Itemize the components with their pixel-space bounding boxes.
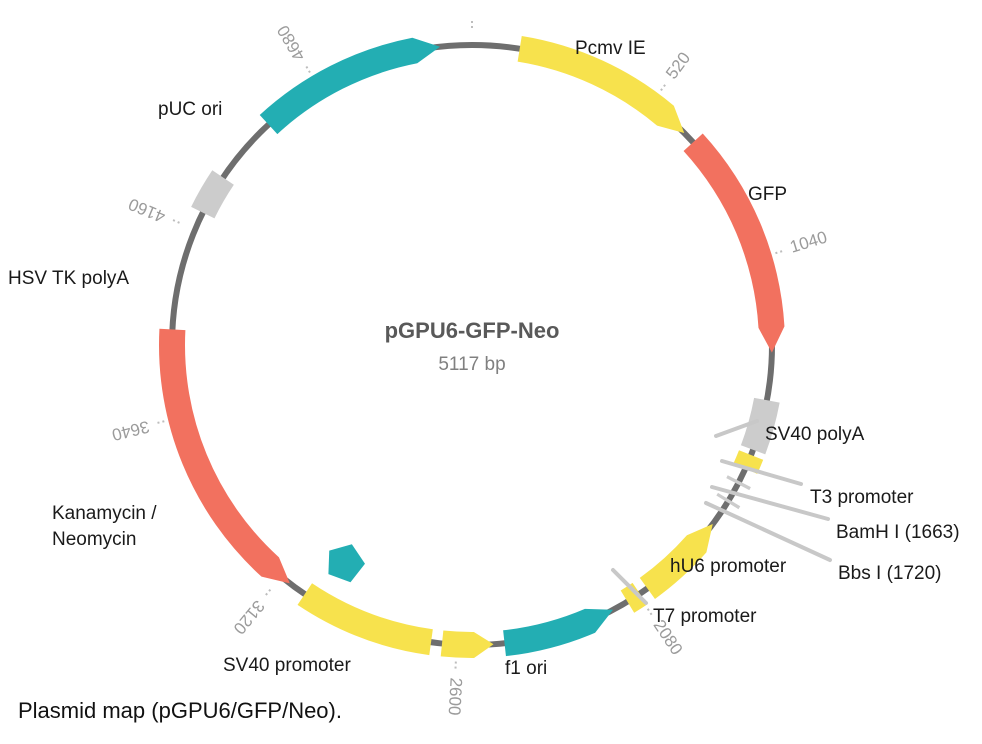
plasmid-map-svg: 5201040208026003120364041604680 Pcmv IEG… <box>0 0 982 744</box>
feature-label-hsv-tk-polya: HSV TK polyA <box>8 268 129 289</box>
feature-label-t7-promoter: T7 promoter <box>653 606 757 627</box>
tick-mark-3120 <box>265 590 271 597</box>
plasmid-map-figure: 5201040208026003120364041604680 Pcmv IEG… <box>0 0 982 744</box>
feature-label-bamh-i-1663: BamH I (1663) <box>836 522 960 543</box>
feature-arc-f1-ori[interactable] <box>503 609 613 656</box>
feature-label-bbs-i-1720: Bbs I (1720) <box>838 563 942 584</box>
tick-mark-4680 <box>305 65 310 73</box>
tick-mark-4160 <box>171 219 179 222</box>
feature-label-kanamycin-neomycin: Kanamycin /Neomycin <box>52 503 157 550</box>
figure-caption: Plasmid map (pGPU6/GFP/Neo). <box>18 698 342 724</box>
tick-label-3640: 3640 <box>110 417 151 445</box>
plasmid-size: 5117 bp <box>438 354 505 375</box>
plasmid-center-text-group: pGPU6-GFP-Neo 5117 bp <box>385 318 560 375</box>
feature-arc-kanamycin-neomycin[interactable] <box>159 329 290 584</box>
feature-label-f1-ori: f1 ori <box>505 658 547 679</box>
bbsi-leader <box>706 503 830 560</box>
feature-arc-sv40-promoter[interactable] <box>441 631 494 658</box>
feature-arc-hsv-tk-polya[interactable] <box>191 170 234 218</box>
tick-label-4160: 4160 <box>126 194 168 226</box>
tick-mark-1040 <box>775 251 784 254</box>
feature-label-sv40-promoter: SV40 promoter <box>223 655 351 676</box>
tick-mark-3640 <box>156 421 165 423</box>
tick-label-1040: 1040 <box>788 228 830 257</box>
tick-label-4680: 4680 <box>273 22 309 64</box>
tick-mark-520 <box>661 83 666 90</box>
feature-label-t3-promoter: T3 promoter <box>810 487 914 508</box>
feature-teal-pentagon[interactable] <box>328 544 365 582</box>
tick-label-2600: 2600 <box>445 677 466 716</box>
feature-label-hu6-promoter: hU6 promoter <box>670 556 787 577</box>
feature-label-puc-ori: pUC ori <box>158 99 222 120</box>
feature-arc-sv40-promoter-2[interactable] <box>298 583 433 655</box>
plasmid-name: pGPU6-GFP-Neo <box>385 318 560 343</box>
feature-arc-gfp[interactable] <box>684 134 785 353</box>
feature-label-gfp: GFP <box>748 184 787 205</box>
feature-label-sv40-polya: SV40 polyA <box>765 424 865 445</box>
tick-mark-2080 <box>648 609 653 616</box>
feature-label-pcmv-ie: Pcmv IE <box>575 38 646 59</box>
tick-label-3120: 3120 <box>230 597 269 638</box>
tick-label-520: 520 <box>662 49 694 83</box>
